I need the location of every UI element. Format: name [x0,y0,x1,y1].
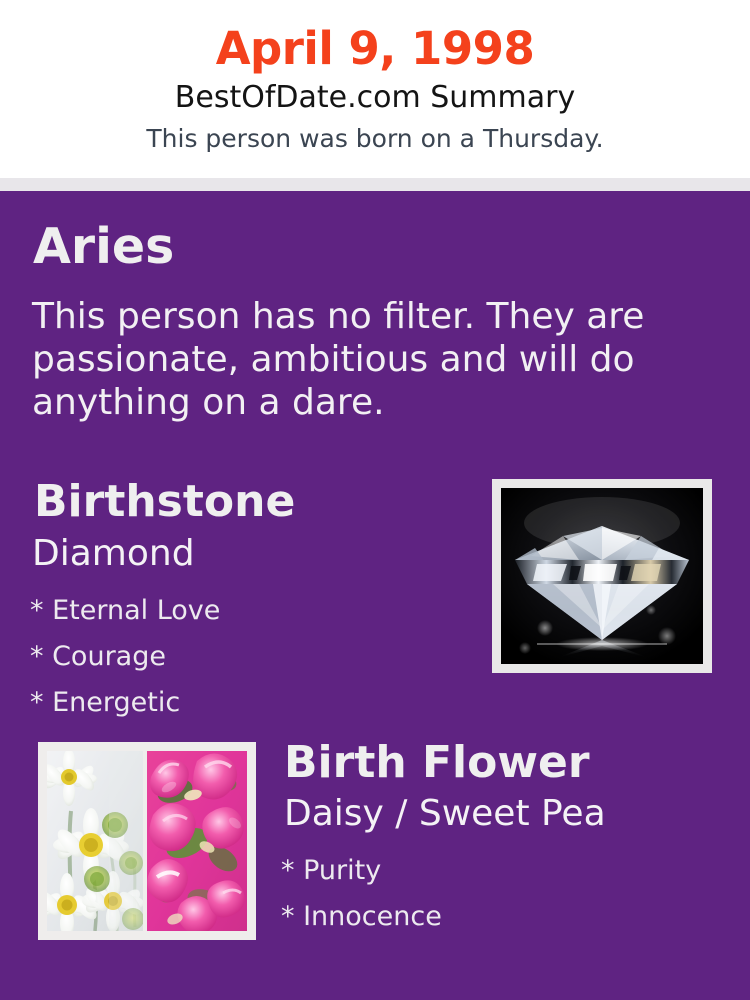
zodiac-sign-title: Aries [33,222,174,271]
birthstone-name: Diamond [32,536,195,572]
birth-flower-trait-list: * Purity * Innocence [281,848,442,940]
zodiac-description: This person has no filter. They are pass… [32,295,648,424]
birth-day-of-week: This person was born on a Thursday. [146,126,603,151]
list-item: * Courage [30,634,220,680]
birthstone-heading: Birthstone [34,480,295,524]
summary-page: April 9, 1998 BestOfDate.com Summary Thi… [0,0,750,1000]
header-divider [0,178,750,191]
birth-flower-image-frame [38,742,256,940]
list-item: * Energetic [30,680,220,726]
flower-icon [47,751,247,931]
site-name: BestOfDate.com Summary [175,83,575,113]
diamond-icon [501,488,703,664]
list-item: * Innocence [281,894,442,940]
page-header: April 9, 1998 BestOfDate.com Summary Thi… [0,0,750,178]
birth-flower-name: Daisy / Sweet Pea [284,796,606,832]
details-panel: Aries This person has no filter. They ar… [0,191,750,1000]
page-title-date: April 9, 1998 [216,26,535,71]
birthstone-image-frame [492,479,712,673]
list-item: * Purity [281,848,442,894]
birthstone-trait-list: * Eternal Love * Courage * Energetic [30,588,220,726]
birth-flower-heading: Birth Flower [284,741,590,785]
list-item: * Eternal Love [30,588,220,634]
